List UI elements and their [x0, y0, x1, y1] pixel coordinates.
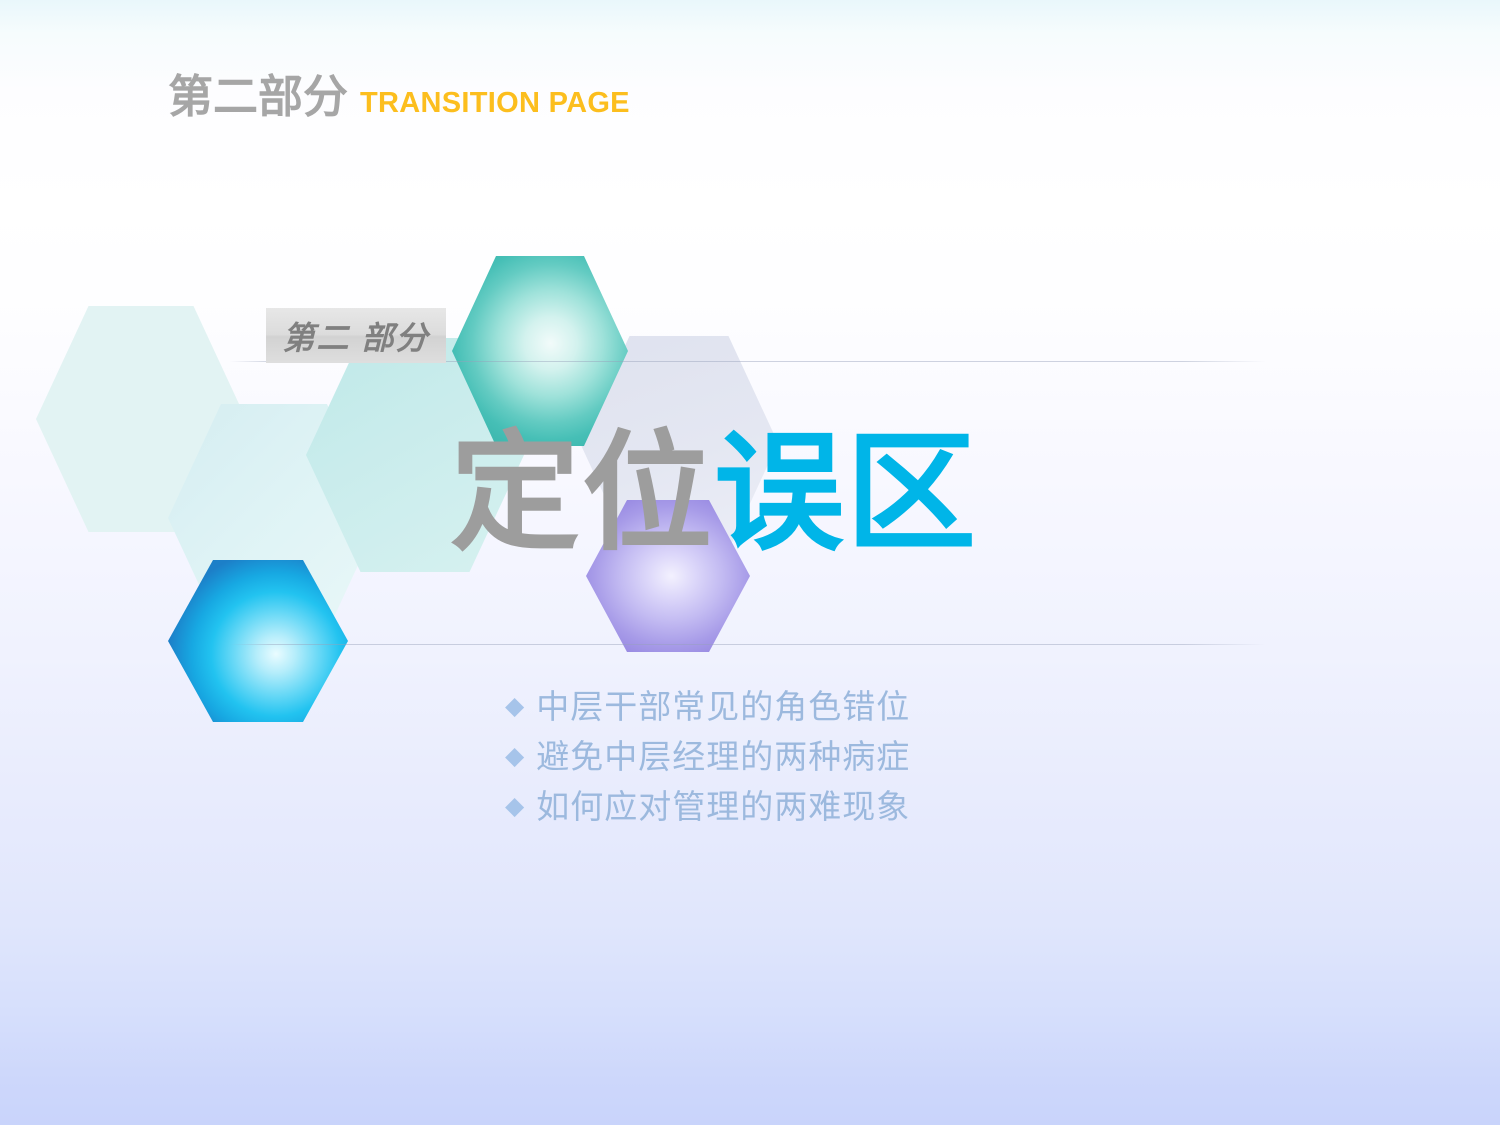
diamond-icon: ◆ [505, 744, 524, 769]
diamond-icon: ◆ [505, 794, 524, 819]
slide-header: 第二部分 TRANSITION PAGE [168, 74, 630, 119]
list-item-label: 避免中层经理的两种病症 [536, 740, 910, 773]
section-chip: 第二 部分 [266, 308, 446, 363]
header-chinese-label: 第二部分 [168, 74, 348, 119]
list-item: ◆ 中层干部常见的角色错位 [505, 681, 910, 731]
list-item-label: 中层干部常见的角色错位 [536, 690, 910, 723]
list-item: ◆ 避免中层经理的两种病症 [505, 731, 910, 781]
page-title-part-b: 误区 [714, 420, 978, 566]
page-title-part-a: 定位 [450, 420, 714, 566]
divider-line-bottom [230, 644, 1266, 645]
list-item: ◆ 如何应对管理的两难现象 [505, 781, 910, 831]
list-item-label: 如何应对管理的两难现象 [536, 790, 910, 823]
section-chip-label: 第二 部分 [283, 313, 430, 359]
header-english-label: TRANSITION PAGE [360, 89, 630, 118]
slide-canvas: 第二部分 TRANSITION PAGE 第二 部分 定位误区 ◆ 中层干部常见… [0, 0, 1500, 1125]
page-title: 定位误区 [450, 428, 978, 558]
agenda-list: ◆ 中层干部常见的角色错位 ◆ 避免中层经理的两种病症 ◆ 如何应对管理的两难现… [505, 681, 910, 831]
diamond-icon: ◆ [505, 694, 524, 719]
